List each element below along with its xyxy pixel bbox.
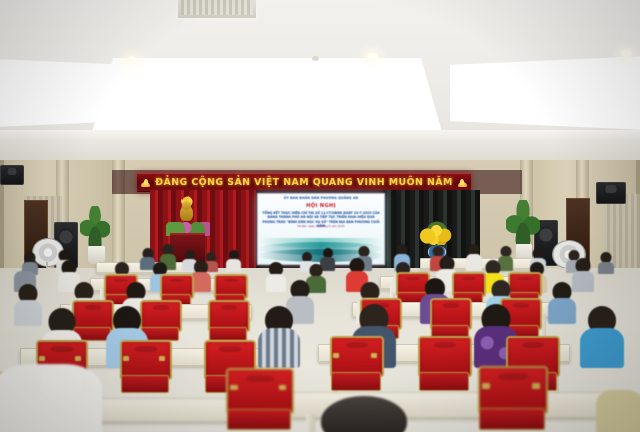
potted-plant-leaves-left [80,206,110,246]
foreground-attendee-head [318,396,410,432]
attendee [598,252,614,274]
attendee [548,282,576,324]
foreground-attendee [0,350,102,432]
chair-stud [230,385,238,391]
chair-seat [227,409,290,430]
attendee-raising-hand [466,244,482,271]
attendee-torso [598,262,614,274]
chair-stud [159,356,165,361]
attendee-torso [580,328,624,368]
chair-stud [279,385,287,391]
chair-stud [482,383,490,389]
attendee-torso [596,390,640,432]
chair-seat [121,375,169,393]
banner-text: ĐẢNG CỘNG SẢN VIỆT NAM QUANG VINH MUÔN N… [155,177,453,188]
chair [418,336,468,392]
wall-speaker-left [0,165,24,185]
chair [478,366,544,432]
attendee [266,262,286,292]
attendee-torso [258,328,300,368]
yellow-flower-bloom [420,225,454,245]
attendee [580,306,624,368]
chair-stud [333,353,339,358]
slide-header: ỦY BAN NHÂN DÂN PHƯỜNG QUẢNG AN [262,196,380,200]
lotus-ornament-icon [141,179,150,187]
chair-stud [371,353,377,358]
chair-seat [419,372,469,391]
ceiling-ac-cassette-icon [176,0,258,20]
ceiling-light-panel-center [92,58,442,132]
attendee-striped [258,306,300,368]
downlight [621,50,632,57]
chair [330,336,380,392]
ceiling-light-panel-right [450,54,640,132]
downlight [367,53,378,60]
slide-footer: Hà Nội, ngày 13 tháng 9 năm 2025 [262,225,380,228]
conference-hall-photo: ĐẢNG CỘNG SẢN VIỆT NAM QUANG VINH MUÔN N… [0,0,640,432]
attendee [226,250,241,272]
foreground-attendee-right [596,376,640,432]
chair [226,368,290,432]
ho-chi-minh-bust [180,205,193,221]
chair [430,298,468,340]
attendee-torso [266,274,286,292]
chair-seat [331,372,381,391]
chair-stud [532,383,540,389]
attendee [14,284,42,326]
attendee-torso [226,259,241,272]
chair-back [418,336,472,377]
chair-seat [479,408,544,430]
downlight [126,56,137,63]
table-leg [306,414,315,432]
lotus-ornament-icon [458,179,467,187]
chair-back [478,366,548,414]
ceiling [0,0,640,172]
smoke-detector-icon [312,56,319,61]
attendee-torso [466,254,482,271]
chair-stud [123,356,129,361]
attendee-torso [14,300,42,326]
attendee-torso [548,298,576,324]
chair-back [226,368,294,414]
chair [208,300,246,342]
attendee-head [321,396,407,432]
wall-speaker-right [596,182,626,204]
white-cap [40,364,82,400]
potted-plant-leaves-right [506,200,540,244]
chair [120,340,168,394]
slide-title: HỘI NGHỊ [262,203,380,209]
